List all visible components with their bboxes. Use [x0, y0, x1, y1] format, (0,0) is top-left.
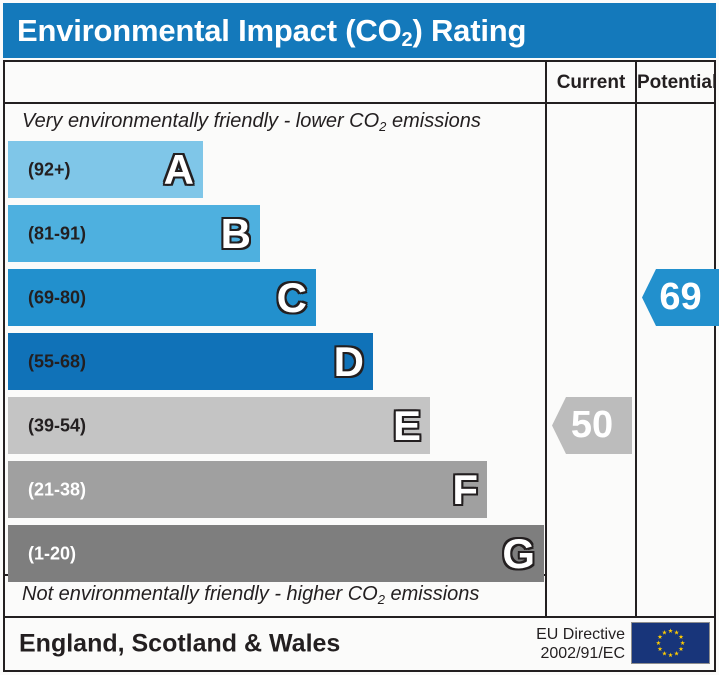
potential-rating-marker: 69	[642, 269, 719, 326]
title-subscript: 2	[402, 29, 413, 51]
footer-directive: EU Directive 2002/91/EC	[536, 625, 625, 663]
band-letter-b: B	[221, 213, 251, 255]
caption-bottom-subscript: 2	[378, 592, 385, 607]
certificate-header: Environmental Impact (CO2) Rating	[3, 3, 716, 58]
band-letter-e: E	[393, 405, 421, 447]
rating-band-f: (21-38)F	[8, 461, 487, 518]
band-letter-a: A	[164, 149, 194, 191]
band-letter-f: F	[452, 469, 478, 511]
band-letter-d: D	[334, 341, 364, 383]
certificate-footer: England, Scotland & Wales EU Directive 2…	[3, 618, 716, 672]
caption-top: Very environmentally friendly - lower CO…	[22, 110, 481, 133]
footer-region-label: England, Scotland & Wales	[19, 630, 340, 659]
footer-directive-line1: EU Directive	[536, 625, 625, 644]
band-range-label: (92+)	[28, 159, 71, 180]
rating-band-g: (1-20)G	[8, 525, 544, 582]
eu-flag-stars	[632, 623, 709, 663]
band-range-label: (55-68)	[28, 351, 86, 372]
band-range-label: (1-20)	[28, 543, 76, 564]
rating-band-b: (81-91)B	[8, 205, 260, 262]
column-divider-potential	[635, 62, 637, 616]
band-letter-g: G	[502, 533, 535, 575]
column-header-potential: Potential	[637, 70, 716, 96]
epc-environmental-impact-certificate: Environmental Impact (CO2) Rating Curren…	[0, 0, 719, 675]
band-range-label: (69-80)	[28, 287, 86, 308]
header-row-rule-right	[545, 102, 716, 104]
column-header-current: Current	[547, 70, 635, 96]
eu-flag-icon	[631, 622, 710, 664]
header-row-rule-left	[5, 102, 545, 104]
rating-band-a: (92+)A	[8, 141, 203, 198]
rating-band-c: (69-80)C	[8, 269, 316, 326]
page-title: Environmental Impact (CO2) Rating	[17, 13, 526, 49]
caption-top-subscript: 2	[379, 119, 386, 134]
band-letter-c: C	[277, 277, 307, 319]
band-range-label: (81-91)	[28, 223, 86, 244]
footer-directive-line2: 2002/91/EC	[536, 644, 625, 663]
rating-band-d: (55-68)D	[8, 333, 373, 390]
band-range-label: (21-38)	[28, 479, 86, 500]
rating-band-e: (39-54)E	[8, 397, 430, 454]
current-rating-marker: 50	[552, 397, 632, 454]
caption-bottom: Not environmentally friendly - higher CO…	[22, 583, 479, 606]
column-divider-current	[545, 62, 547, 616]
band-range-label: (39-54)	[28, 415, 86, 436]
rating-chart-frame: Current Potential Very environmentally f…	[3, 60, 716, 618]
